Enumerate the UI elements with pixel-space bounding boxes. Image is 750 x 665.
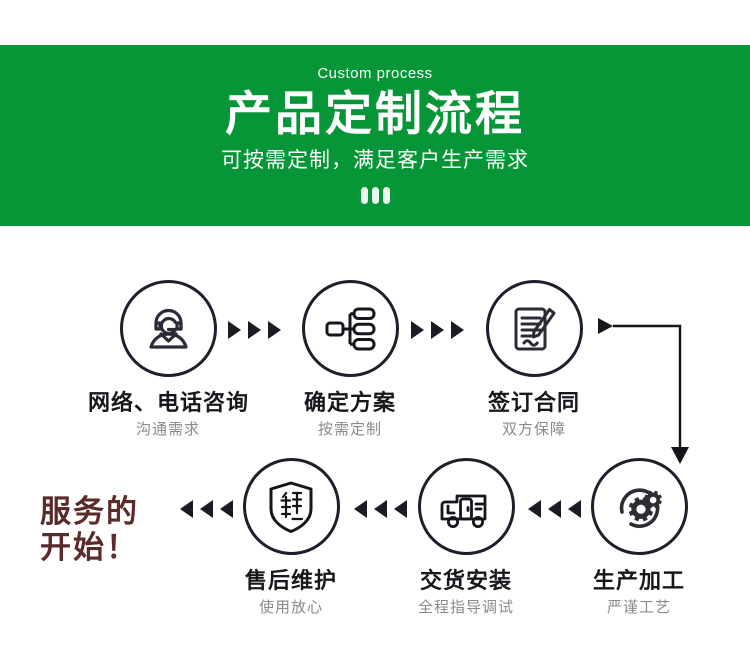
process-step-3: 签订合同 双方保障 (454, 280, 614, 439)
contract-signing-icon (486, 280, 583, 377)
step-subtitle: 按需定制 (270, 420, 430, 439)
step-title: 交货安装 (386, 568, 546, 594)
arrow-right-icon (248, 321, 261, 339)
process-step-2: 确定方案 按需定制 (270, 280, 430, 439)
dot-indicator-3 (383, 187, 390, 204)
step-title: 生产加工 (559, 568, 719, 594)
custom-process-infographic: Custom process 产品定制流程 可按需定制，满足客户生产需求 (0, 0, 750, 665)
banner-subtitle: 可按需定制，满足客户生产需求 (0, 146, 750, 176)
arrow-right-icon (411, 321, 424, 339)
service-start-label: 服务的 开始！ (40, 494, 139, 566)
banner-dots-indicator (0, 185, 750, 205)
step-subtitle: 全程指导调试 (386, 598, 546, 617)
gears-production-icon (591, 458, 688, 555)
delivery-truck-icon (418, 458, 515, 555)
shield-aftersales-icon (243, 458, 340, 555)
arrow-right-icon (228, 321, 241, 339)
flowchart-icon (302, 280, 399, 377)
step-subtitle: 使用放心 (211, 598, 371, 617)
process-step-5: 交货安装 全程指导调试 (386, 458, 546, 617)
page-title: 产品定制流程 (0, 85, 750, 143)
process-step-6: 生产加工 严谨工艺 (559, 458, 719, 617)
dot-indicator-2 (372, 187, 379, 204)
step-title: 签订合同 (454, 390, 614, 416)
banner-eyebrow: Custom process (0, 65, 750, 83)
step-title: 网络、电话咨询 (88, 390, 248, 416)
process-step-4: 售后维护 使用放心 (211, 458, 371, 617)
arrow-left-icon (180, 500, 193, 518)
service-start-label-line2: 开始！ (40, 530, 139, 566)
arrow-right-icon (431, 321, 444, 339)
arrow-left-icon (354, 500, 367, 518)
step-subtitle: 沟通需求 (88, 420, 248, 439)
process-flow: 网络、电话咨询 沟通需求 (0, 226, 750, 665)
arrow-left-icon (528, 500, 541, 518)
process-step-1: 网络、电话咨询 沟通需求 (88, 280, 248, 439)
step-title: 售后维护 (211, 568, 371, 594)
step-subtitle: 严谨工艺 (559, 598, 719, 617)
step-subtitle: 双方保障 (454, 420, 614, 439)
step-title: 确定方案 (270, 390, 430, 416)
headset-person-icon (120, 280, 217, 377)
header-banner: Custom process 产品定制流程 可按需定制，满足客户生产需求 (0, 45, 750, 226)
dot-indicator-1 (361, 187, 368, 204)
elbow-connector-arrow (596, 314, 692, 469)
service-start-label-line1: 服务的 (40, 494, 139, 530)
